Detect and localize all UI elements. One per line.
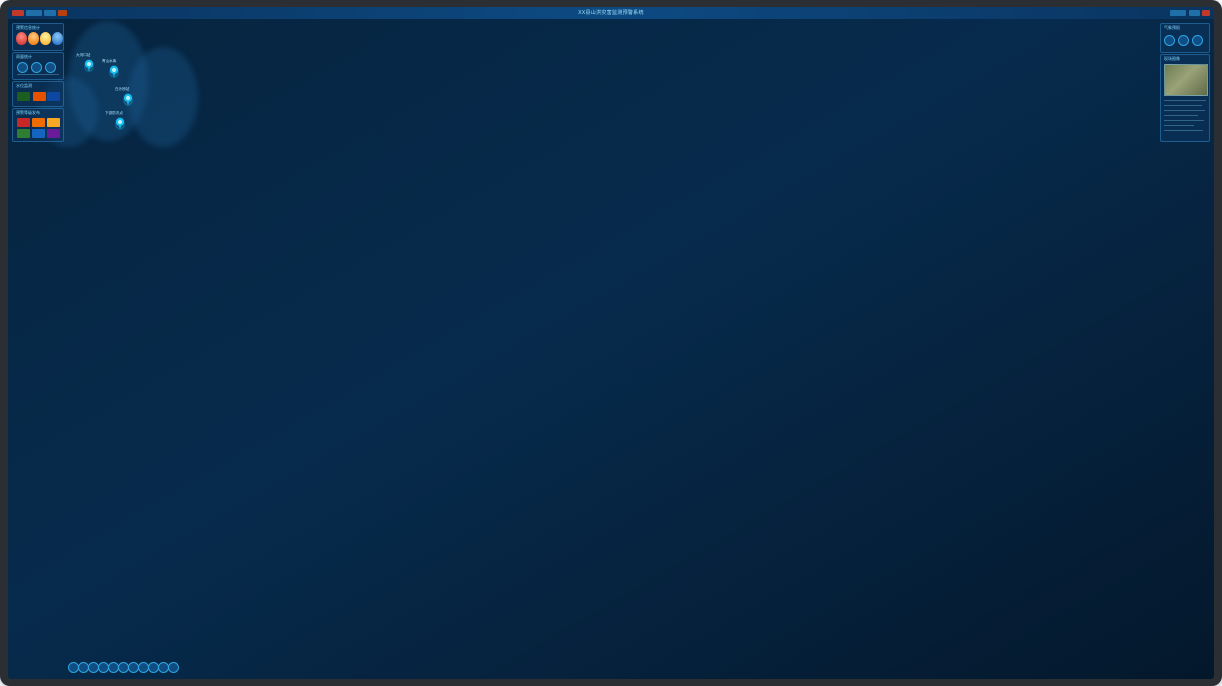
toolbar-icon[interactable] (168, 662, 179, 673)
header-chip[interactable] (1189, 10, 1200, 16)
text-line (1164, 115, 1198, 116)
weather-icon (1178, 35, 1189, 46)
stat-icon (17, 62, 28, 73)
release-btn[interactable] (32, 129, 45, 138)
tablet-map-pin[interactable] (115, 117, 125, 130)
stat-icon (31, 62, 42, 73)
diagram-canvas: IoT water level meter Simple Rainfall St… (0, 0, 1222, 686)
panel-site-image[interactable]: 现场图像 (1160, 54, 1210, 142)
tablet-pin-label: 下游防汛点 (105, 111, 123, 116)
tablet-header-title: XX县山洪灾害监测预警系统 (8, 9, 1214, 16)
text-line (1164, 125, 1194, 126)
release-btn[interactable] (17, 129, 30, 138)
tablet-pin-label: 大河口站 (76, 53, 90, 58)
text-line (1164, 100, 1206, 101)
device-tablet[interactable]: XX县山洪灾害监测预警系统 预警信息统计 雨量统计 (0, 0, 222, 152)
gauge-blue (52, 32, 63, 45)
panel-title: 预警信息统计 (16, 25, 40, 31)
panel-rain-stats[interactable]: 雨量统计 (12, 52, 64, 80)
tablet-screen[interactable]: XX县山洪灾害监测预警系统 预警信息统计 雨量统计 (8, 7, 1214, 679)
header-chip[interactable] (1202, 10, 1210, 16)
panel-weather-forecast[interactable]: 气象预报 (1160, 23, 1210, 53)
header-chip[interactable] (44, 10, 56, 16)
text-line (1164, 130, 1203, 131)
release-btn[interactable] (32, 118, 45, 127)
tablet-bottom-toolbar[interactable] (68, 662, 180, 673)
weather-icon (1164, 35, 1175, 46)
tablet-pin-label: 白沙桥站 (115, 87, 129, 92)
divider (17, 74, 59, 75)
text-line (1164, 105, 1202, 106)
panel-warning-stats[interactable]: 预警信息统计 (12, 23, 64, 51)
panel-title: 气象预报 (1164, 25, 1180, 31)
tablet-pin-label: 青山水库 (102, 59, 116, 64)
panel-title: 预警等级发布 (16, 110, 40, 116)
terrain-ridge (128, 47, 198, 147)
level-chip (33, 92, 46, 101)
panel-warning-release[interactable]: 预警等级发布 (12, 108, 64, 142)
panel-title: 现场图像 (1164, 56, 1180, 62)
release-btn[interactable] (47, 129, 60, 138)
tablet-map-pin[interactable] (123, 93, 133, 106)
stat-icon (45, 62, 56, 73)
site-camera-image[interactable] (1164, 64, 1208, 96)
gauge-orange (28, 32, 39, 45)
header-chip[interactable] (58, 10, 67, 16)
tablet-map-pin[interactable] (109, 65, 119, 78)
text-line (1164, 110, 1205, 111)
gauge-yellow (40, 32, 51, 45)
text-line (1164, 120, 1204, 121)
tablet-map-pin[interactable] (84, 59, 94, 72)
release-btn[interactable] (17, 118, 30, 127)
header-chip[interactable] (12, 10, 24, 16)
panel-title: 雨量统计 (16, 54, 32, 60)
header-chip[interactable] (26, 10, 42, 16)
panel-water-level[interactable]: 水位监测 (12, 81, 64, 107)
level-chip (17, 92, 30, 101)
header-chip[interactable] (1170, 10, 1186, 16)
weather-icon (1192, 35, 1203, 46)
tablet-body: XX县山洪灾害监测预警系统 预警信息统计 雨量统计 (0, 0, 1222, 686)
level-chip (47, 92, 60, 101)
gauge-red (16, 32, 27, 45)
panel-title: 水位监测 (16, 83, 32, 89)
release-btn[interactable] (47, 118, 60, 127)
